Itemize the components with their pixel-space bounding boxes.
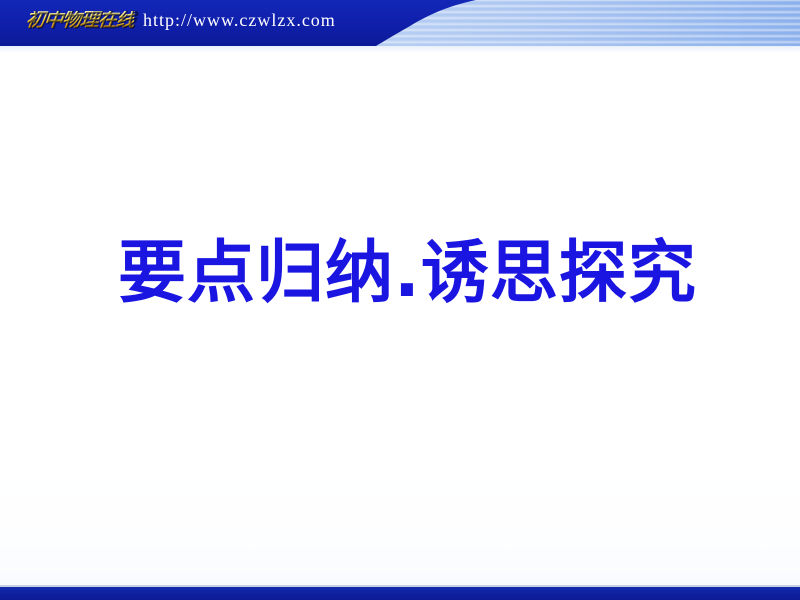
- site-url-text: http://www.czwlzx.com: [143, 11, 336, 29]
- slide-title: 要点归纳.诱思探究: [118, 240, 697, 308]
- presentation-slide: 初中物理在线 http://www.czwlzx.com 要点归纳.诱思探究: [0, 0, 800, 600]
- footer-bar: [0, 587, 800, 600]
- site-branding: 初中物理在线 http://www.czwlzx.com: [26, 11, 336, 30]
- banner-underline: [0, 46, 800, 52]
- site-logo-text: 初中物理在线: [25, 11, 135, 30]
